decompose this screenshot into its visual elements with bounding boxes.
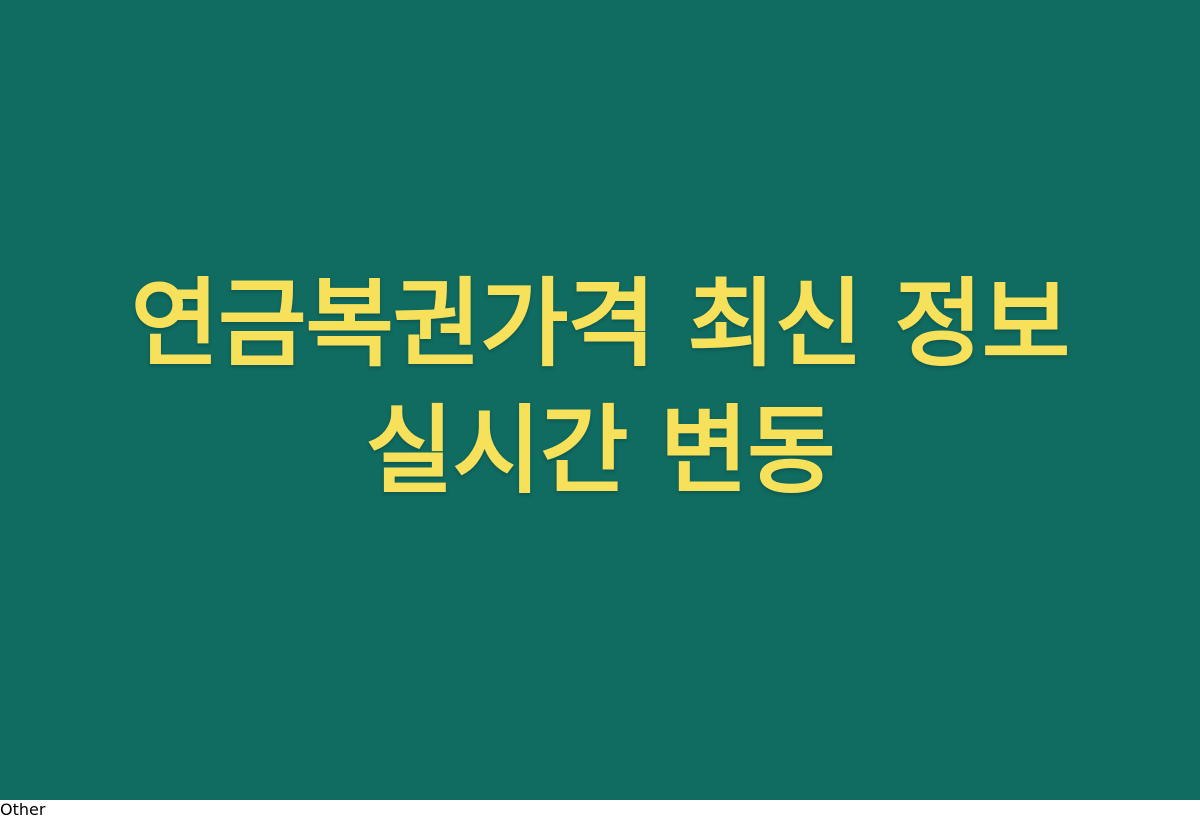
headline-line-1: 연금복권가격 최신 정보: [0, 261, 1200, 388]
headline-block: 연금복권가격 최신 정보 실시간 변동: [0, 261, 1200, 514]
headline-line-2: 실시간 변동: [0, 388, 1200, 515]
banner-canvas: 연금복권가격 최신 정보 실시간 변동: [0, 0, 1200, 800]
